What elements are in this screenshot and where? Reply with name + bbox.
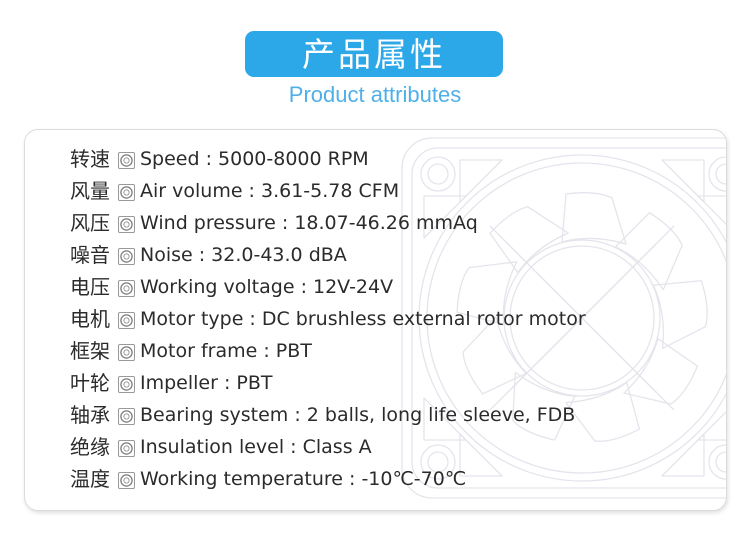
fan-icon <box>115 470 137 490</box>
spec-row: 电压 Working voltage : 12V-24V <box>70 271 710 303</box>
page-title: 产品属性 <box>302 38 446 71</box>
page-title-badge: 产品属性 <box>245 31 503 77</box>
product-attributes-page: 产品属性 Product attributes <box>0 0 750 541</box>
spec-label-en: Working temperature : -10℃-70℃ <box>140 469 466 489</box>
fan-icon <box>115 182 137 202</box>
spec-label-en: Air volume : 3.61-5.78 CFM <box>140 181 399 201</box>
spec-row: 轴承 Bearing system : 2 balls, long life s… <box>70 399 710 431</box>
spec-label-en: Insulation level : Class A <box>140 437 372 457</box>
spec-label-cn: 框架 <box>70 341 110 361</box>
page-subtitle: Product attributes <box>0 82 750 108</box>
fan-icon <box>115 438 137 458</box>
spec-row: 叶轮 Impeller : PBT <box>70 367 710 399</box>
spec-row: 风压 Wind pressure : 18.07-46.26 mmAq <box>70 207 710 239</box>
spec-label-cn: 风压 <box>70 213 110 233</box>
fan-icon <box>115 342 137 362</box>
spec-row: 温度 Working temperature : -10℃-70℃ <box>70 463 710 495</box>
fan-icon <box>115 406 137 426</box>
spec-label-cn: 温度 <box>70 469 110 489</box>
spec-row: 电机 Motor type : DC brushless external ro… <box>70 303 710 335</box>
spec-label-cn: 噪音 <box>70 245 110 265</box>
spec-row: 噪音 Noise : 32.0-43.0 dBA <box>70 239 710 271</box>
spec-row: 绝缘 Insulation level : Class A <box>70 431 710 463</box>
spec-label-cn: 电机 <box>70 309 110 329</box>
spec-label-cn: 转速 <box>70 149 110 169</box>
spec-label-cn: 轴承 <box>70 405 110 425</box>
fan-icon <box>115 374 137 394</box>
fan-icon <box>115 310 137 330</box>
spec-row: 框架 Motor frame : PBT <box>70 335 710 367</box>
spec-label-en: Motor frame : PBT <box>140 341 312 361</box>
spec-label-en: Impeller : PBT <box>140 373 273 393</box>
spec-label-cn: 叶轮 <box>70 373 110 393</box>
fan-icon <box>115 214 137 234</box>
spec-label-cn: 电压 <box>70 277 110 297</box>
spec-label-en: Noise : 32.0-43.0 dBA <box>140 245 347 265</box>
specs-card: 转速 Speed : 5000-8000 RPM 风量 <box>24 129 727 511</box>
page-header: 产品属性 Product attributes <box>0 0 750 120</box>
spec-label-en: Working voltage : 12V-24V <box>140 277 393 297</box>
spec-label-en: Motor type : DC brushless external rotor… <box>140 309 586 329</box>
spec-label-cn: 绝缘 <box>70 437 110 457</box>
fan-icon <box>115 278 137 298</box>
spec-row: 转速 Speed : 5000-8000 RPM <box>70 143 710 175</box>
spec-label-cn: 风量 <box>70 181 110 201</box>
spec-label-en: Speed : 5000-8000 RPM <box>140 149 369 169</box>
fan-icon <box>115 246 137 266</box>
spec-list: 转速 Speed : 5000-8000 RPM 风量 <box>70 143 710 495</box>
spec-row: 风量 Air volume : 3.61-5.78 CFM <box>70 175 710 207</box>
fan-icon <box>115 150 137 170</box>
spec-label-en: Bearing system : 2 balls, long life slee… <box>140 405 575 425</box>
spec-label-en: Wind pressure : 18.07-46.26 mmAq <box>140 213 478 233</box>
